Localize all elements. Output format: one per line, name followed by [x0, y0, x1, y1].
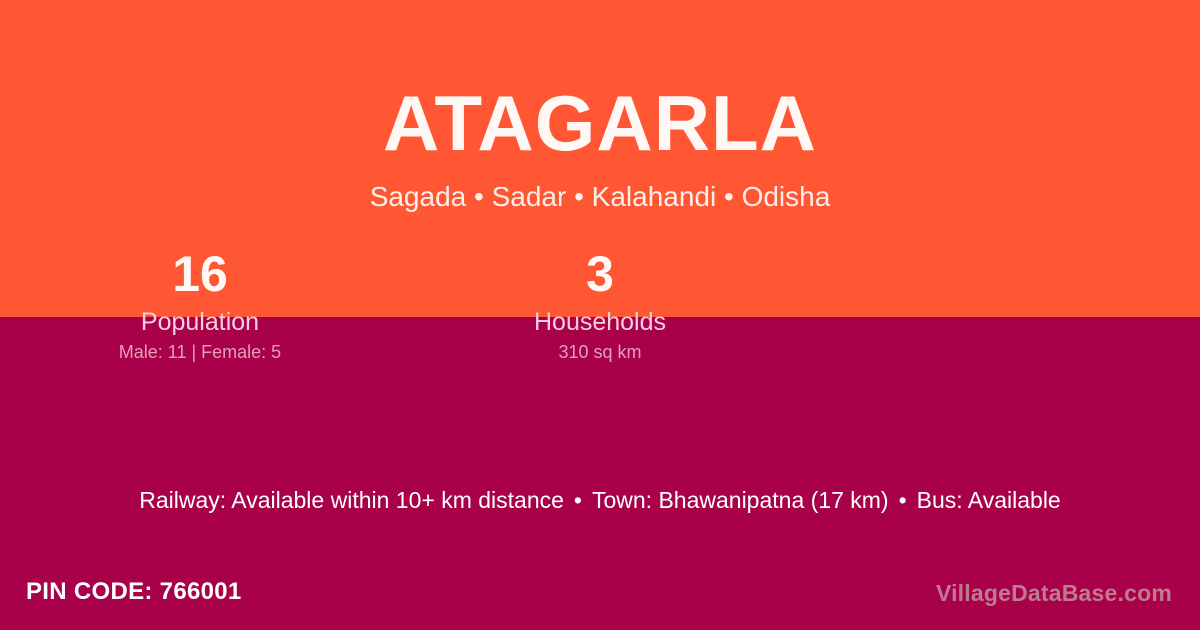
card-footer: PIN CODE: 766001 VillageDataBase.com — [0, 576, 1200, 616]
card-header: ATAGARLA Sagada • Sadar • Kalahandi • Od… — [0, 0, 1200, 213]
stats-row: 16 Population Male: 11 | Female: 5 3 Hou… — [0, 243, 1200, 365]
stat-households: 3 Households 310 sq km — [400, 243, 800, 365]
facility-railway: Railway: Available within 10+ km distanc… — [139, 487, 564, 513]
households-value: 3 — [400, 243, 800, 305]
facility-separator-icon: • — [564, 486, 592, 514]
village-info-card: ATAGARLA Sagada • Sadar • Kalahandi • Od… — [0, 0, 1200, 630]
facility-nearest-town: Town: Bhawanipatna (17 km) — [592, 487, 889, 513]
population-label: Population — [0, 305, 400, 339]
area-value: 310 sq km — [400, 339, 800, 365]
site-brand-logo: VillageDataBase.com — [936, 577, 1172, 609]
stat-population: 16 Population Male: 11 | Female: 5 — [0, 243, 400, 365]
households-label: Households — [400, 305, 800, 339]
location-breadcrumb: Sagada • Sadar • Kalahandi • Odisha — [0, 162, 1200, 213]
facility-separator-icon: • — [889, 486, 917, 514]
page-title: ATAGARLA — [0, 0, 1200, 162]
population-value: 16 — [0, 243, 400, 305]
facilities-row: Railway: Available within 10+ km distanc… — [0, 486, 1200, 514]
population-gender-split: Male: 11 | Female: 5 — [0, 339, 400, 365]
pin-code-label: PIN CODE: 766001 — [26, 576, 242, 608]
facility-bus: Bus: Available — [917, 487, 1061, 513]
